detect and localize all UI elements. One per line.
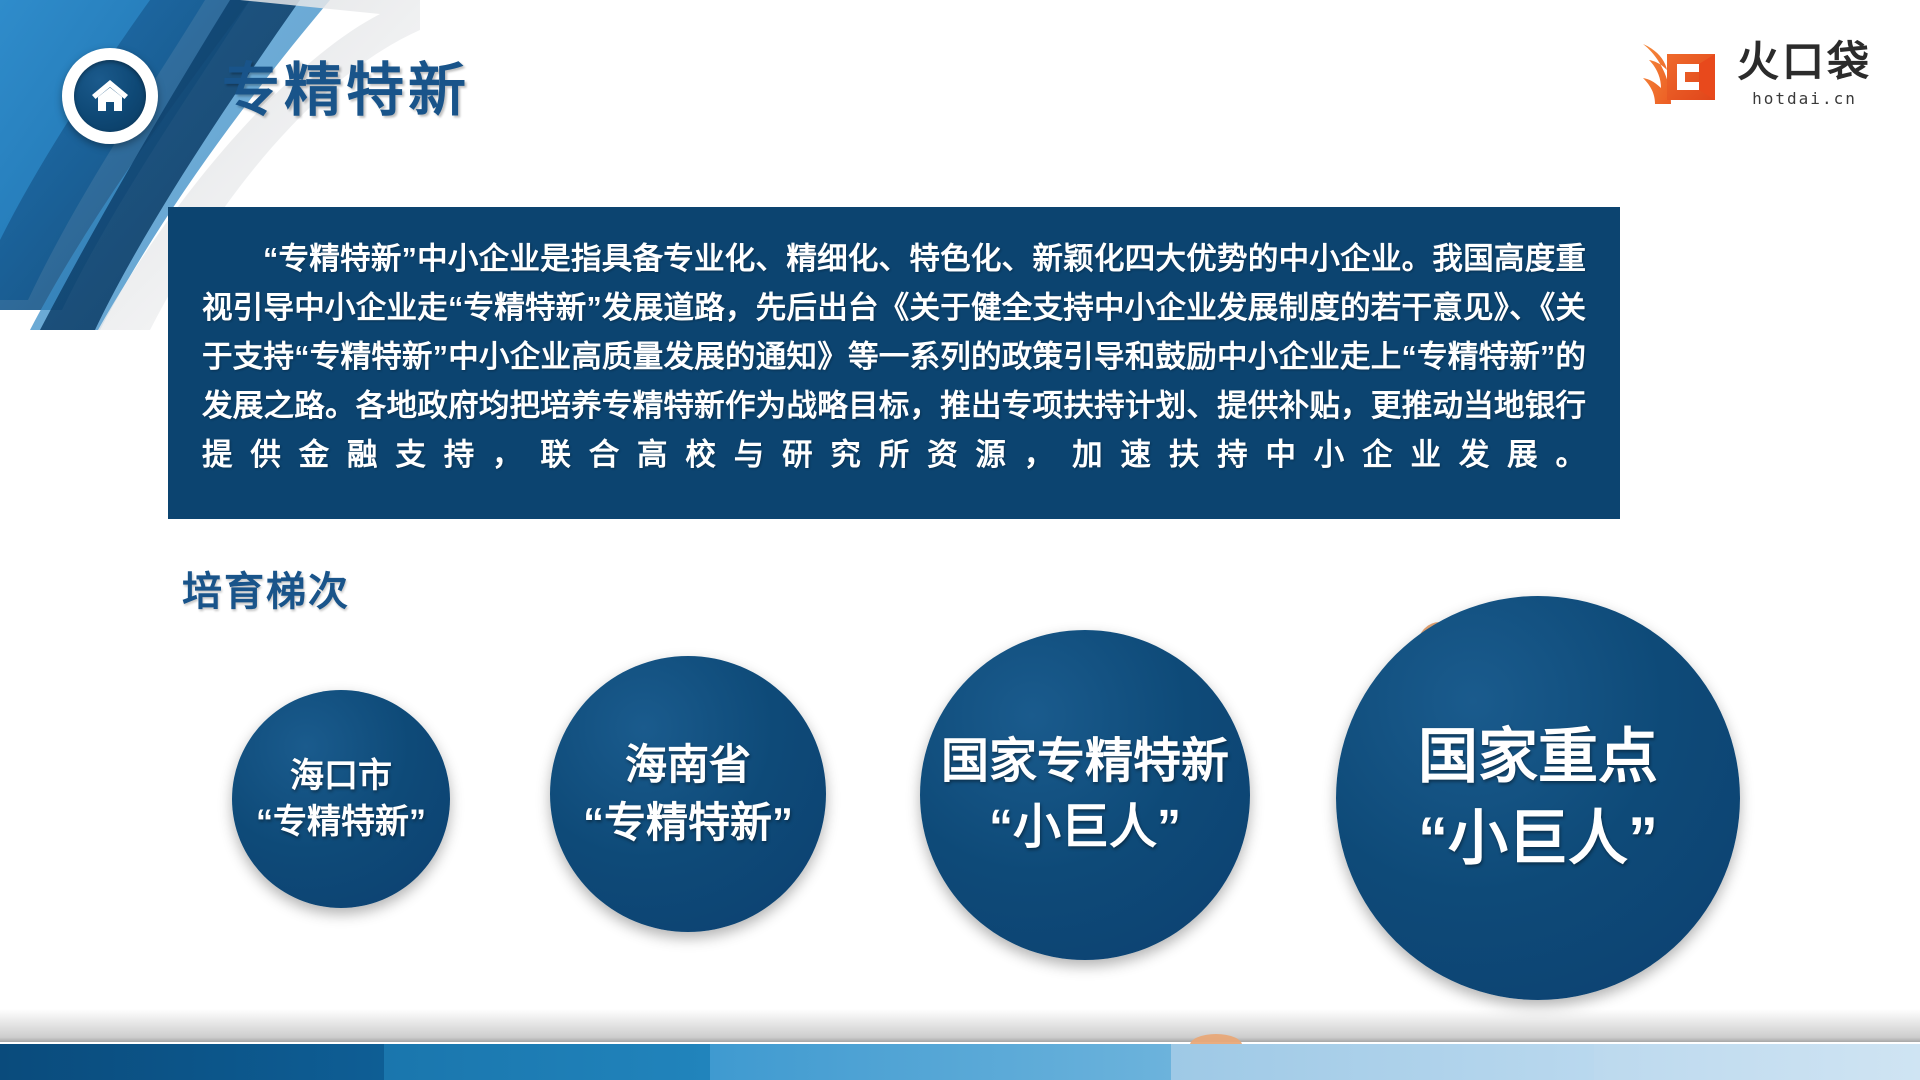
bottom-bar-segment-5 [1594, 1044, 1920, 1080]
section-heading-cultivation-tiers: 培育梯次 [182, 572, 350, 612]
tier-circle-1-line1: 海口市 [290, 753, 392, 799]
tier-circle-3[interactable]: 国家专精特新 “小巨人” [920, 630, 1250, 960]
tier-circle-1[interactable]: 海口市 “专精特新” [232, 690, 450, 908]
brand-name: 火口袋 [1737, 41, 1872, 83]
tier-circle-2-line1: 海南省 [625, 736, 751, 794]
slide-root: 专精特新 火口袋 hotdai.cn “专精特新”中小企业是指具备专业化、精细化… [0, 0, 1920, 1080]
brand-logo[interactable]: 火口袋 hotdai.cn [1637, 38, 1872, 110]
tier-circle-2-line2: “专精特新” [583, 794, 793, 852]
tier-circle-4-line2: “小巨人” [1418, 798, 1658, 880]
page-title: 专精特新 [222, 62, 470, 120]
tier-circle-group: 海口市 “专精特新” 海南省 “专精特新” 国家专精特新 “小巨人” 国家重点 … [0, 636, 1920, 1036]
flame-pocket-logo-icon [1637, 38, 1727, 110]
tier-circle-3-line2: “小巨人” [989, 795, 1181, 861]
bottom-bar-segment-1 [0, 1044, 384, 1080]
orange-dot-decoration-icon [1190, 1034, 1242, 1056]
brand-wordmark: 火口袋 hotdai.cn [1737, 41, 1872, 108]
home-button-inner [74, 60, 146, 132]
home-button[interactable] [62, 48, 158, 144]
tier-circle-1-line2: “专精特新” [256, 799, 426, 845]
home-icon [90, 78, 130, 114]
info-panel: “专精特新”中小企业是指具备专业化、精细化、特色化、新颖化四大优势的中小企业。我… [168, 207, 1620, 519]
bottom-bar-segment-4 [1171, 1044, 1593, 1080]
bottom-color-bar [0, 1044, 1920, 1080]
brand-domain: hotdai.cn [1752, 89, 1857, 108]
tier-circle-4[interactable]: 国家重点 “小巨人” [1336, 596, 1740, 1000]
tier-circle-2[interactable]: 海南省 “专精特新” [550, 656, 826, 932]
tier-circle-3-line1: 国家专精特新 [941, 729, 1229, 795]
info-panel-paragraph: “专精特新”中小企业是指具备专业化、精细化、特色化、新颖化四大优势的中小企业。我… [202, 235, 1586, 480]
bottom-bar-segment-3 [710, 1044, 1171, 1080]
tier-circle-4-line1: 国家重点 [1418, 716, 1658, 798]
bottom-bar-segment-2 [384, 1044, 710, 1080]
